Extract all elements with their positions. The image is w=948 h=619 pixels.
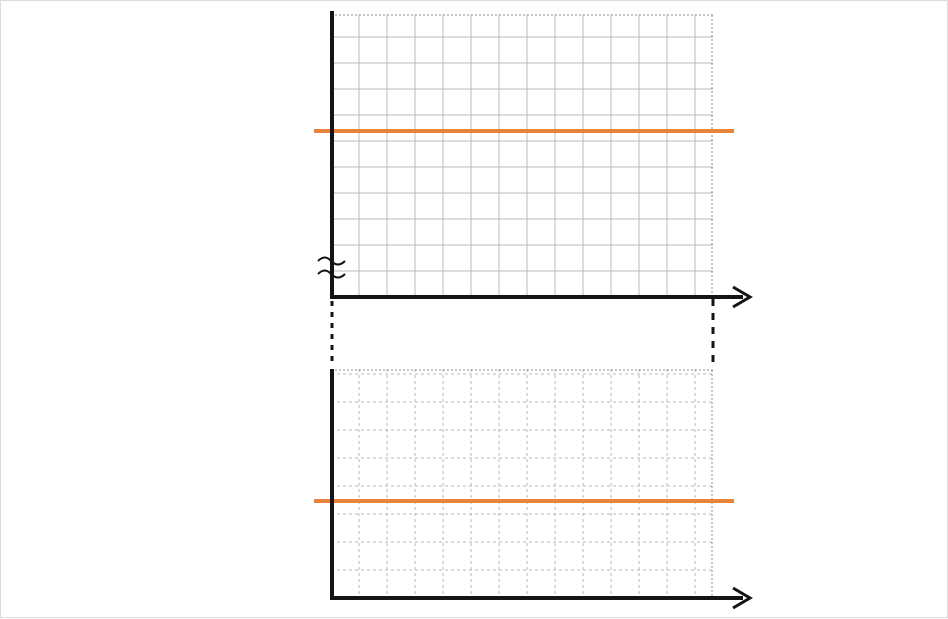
bottom-chart-threshold-label	[185, 480, 204, 618]
figure-canvas	[0, 0, 948, 618]
bottom-chart-y-axis-label	[77, 367, 96, 551]
top-chart-gridlines	[331, 15, 713, 298]
bottom-chart-gridlines	[331, 369, 713, 598]
figure-svg	[1, 1, 948, 619]
